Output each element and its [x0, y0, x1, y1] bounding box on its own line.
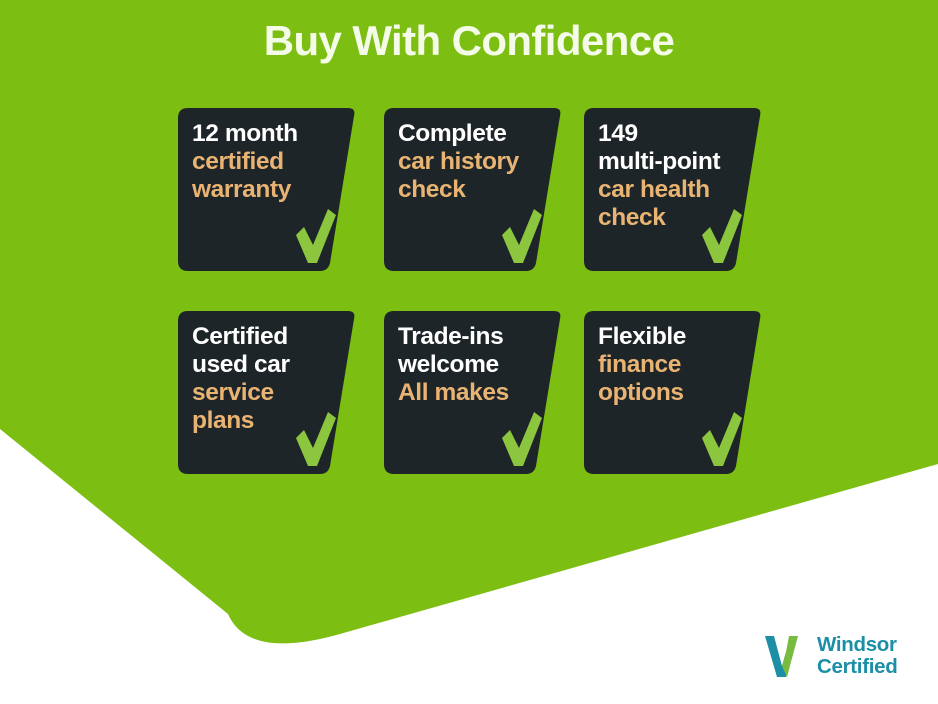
card-line-white: Flexible: [598, 323, 748, 351]
benefit-card[interactable]: Flexible finance options: [584, 311, 762, 474]
poster-canvas: Buy With Confidence 12 month certified w…: [0, 0, 938, 704]
card-text: Complete car history check: [398, 120, 548, 204]
card-line-white: Trade-ins: [398, 323, 548, 351]
card-line-tan: certified: [192, 148, 342, 176]
card-line-white: welcome: [398, 351, 548, 379]
brand-logo[interactable]: Windsor Certified: [762, 628, 934, 684]
card-line-tan: service: [192, 379, 342, 407]
card-line-white: multi-point: [598, 148, 748, 176]
card-line-white: 12 month: [192, 120, 342, 148]
check-icon: [498, 408, 544, 470]
check-icon: [292, 205, 338, 267]
card-line-tan: check: [398, 176, 548, 204]
card-text: 12 month certified warranty: [192, 120, 342, 204]
benefit-card[interactable]: Certified used car service plans: [178, 311, 356, 474]
card-text: Flexible finance options: [598, 323, 748, 407]
benefit-card[interactable]: 149 multi-point car health check: [584, 108, 762, 271]
check-icon: [698, 408, 744, 470]
card-line-tan: car health: [598, 176, 748, 204]
benefit-card-row-top: 12 month certified warranty Complete car…: [178, 108, 758, 301]
card-line-tan: options: [598, 379, 748, 407]
card-line-white: used car: [192, 351, 342, 379]
benefit-card[interactable]: Trade-ins welcome All makes: [384, 311, 562, 474]
card-line-tan: finance: [598, 351, 748, 379]
check-icon: [698, 205, 744, 267]
check-icon: [292, 408, 338, 470]
card-line-tan: All makes: [398, 379, 548, 407]
logo-line-1: Windsor: [817, 634, 897, 656]
logo-line-2: Certified: [817, 656, 897, 678]
benefit-card-grid: 12 month certified warranty Complete car…: [178, 108, 758, 504]
card-line-white: Complete: [398, 120, 548, 148]
windsor-w-icon: [762, 633, 810, 679]
check-icon: [498, 205, 544, 267]
card-text: Trade-ins welcome All makes: [398, 323, 548, 407]
logo-wordmark: Windsor Certified: [817, 634, 897, 678]
card-line-white: 149: [598, 120, 748, 148]
benefit-card-row-bottom: Certified used car service plans Trade-i…: [178, 311, 758, 504]
card-line-white: Certified: [192, 323, 342, 351]
benefit-card[interactable]: 12 month certified warranty: [178, 108, 356, 271]
page-title: Buy With Confidence: [0, 16, 938, 66]
card-line-tan: car history: [398, 148, 548, 176]
card-line-tan: warranty: [192, 176, 342, 204]
benefit-card[interactable]: Complete car history check: [384, 108, 562, 271]
